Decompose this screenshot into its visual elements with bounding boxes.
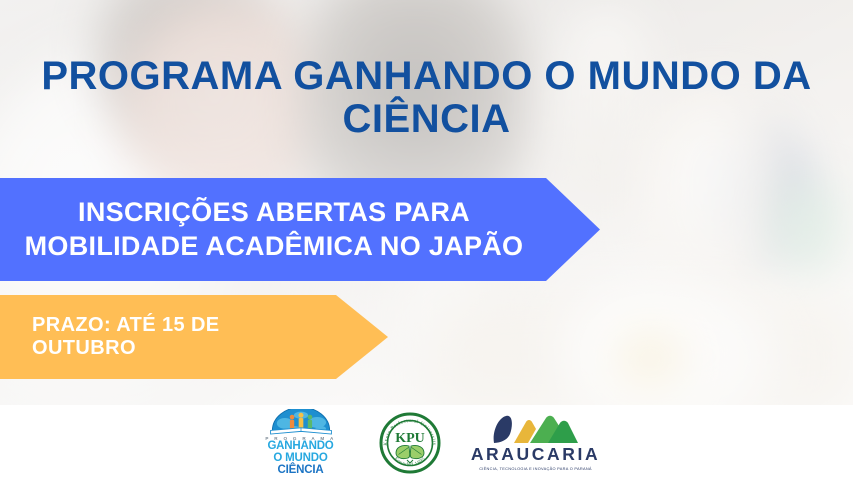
logo-araucaria-wordmark: ARAUCARIA	[471, 446, 600, 464]
logo-kpu: Kyoto Prefectural University Founded 189…	[378, 411, 442, 475]
svg-text:KPU: KPU	[395, 431, 425, 446]
logo-gmc-wordmark: GANHANDO O MUNDO CIÊNCIA	[267, 441, 333, 476]
deadline-banner: PRAZO: ATÉ 15 DE OUTUBRO	[0, 295, 388, 379]
footer-logo-bar: P R O G R A M A GANHANDO O MUNDO CIÊNCIA…	[0, 405, 853, 480]
araucaria-mountains-icon	[490, 414, 582, 444]
globe-with-figures-on-book-icon	[263, 409, 339, 436]
deadline-text: PRAZO: ATÉ 15 DE OUTUBRO	[32, 314, 328, 360]
primary-announcement-banner: INSCRIÇÕES ABERTAS PARA MOBILIDADE ACADÊ…	[0, 178, 600, 281]
three-figures-icon	[289, 412, 312, 429]
poster-title: PROGRAMA GANHANDO O MUNDO DA CIÊNCIA	[0, 55, 853, 141]
logo-araucaria: ARAUCARIA CIÊNCIA, TECNOLOGIA E INOVAÇÃO…	[476, 412, 596, 474]
logo-araucaria-tagline: CIÊNCIA, TECNOLOGIA E INOVAÇÃO PARA O PA…	[479, 466, 592, 471]
primary-announcement-line1: INSCRIÇÕES ABERTAS PARA	[18, 196, 530, 230]
kpu-leaf-seal-icon: Kyoto Prefectural University Founded 189…	[378, 411, 442, 475]
poster: PROGRAMA GANHANDO O MUNDO DA CIÊNCIA INS…	[0, 0, 853, 480]
primary-announcement-text: INSCRIÇÕES ABERTAS PARA MOBILIDADE ACADÊ…	[18, 196, 530, 264]
logo-ganhando-o-mundo-ciencia: P R O G R A M A GANHANDO O MUNDO CIÊNCIA	[258, 409, 344, 477]
logo-gmc-line3: CIÊNCIA	[267, 465, 333, 477]
primary-announcement-line2: MOBILIDADE ACADÊMICA NO JAPÃO	[18, 230, 530, 264]
